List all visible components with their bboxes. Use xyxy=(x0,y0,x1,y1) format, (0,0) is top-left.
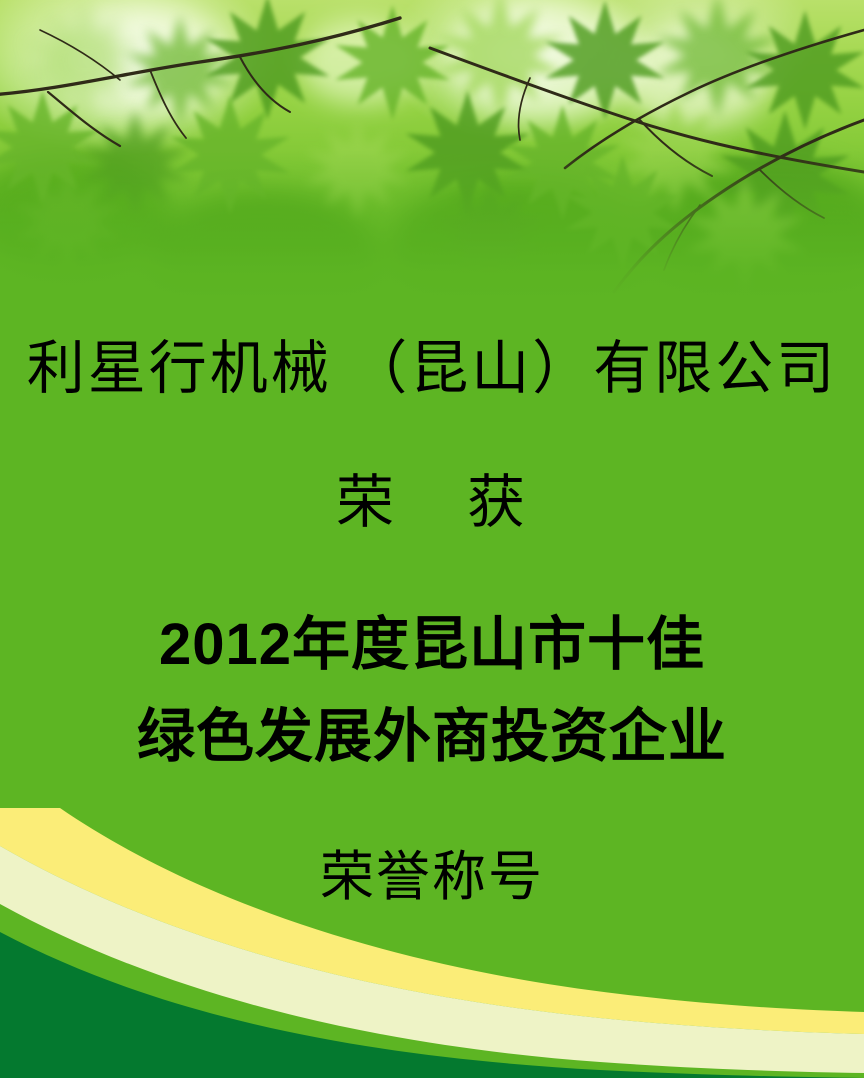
award-title-line-1: 2012年度昆山市十佳 xyxy=(0,616,864,674)
award-title-line-1-text: 年度昆山市十佳 xyxy=(292,612,705,677)
award-verb-line: 荣 获 xyxy=(0,474,864,532)
bottom-curved-ribbon xyxy=(0,808,864,1078)
company-name-line: 利星行机械 （昆山）有限公司 xyxy=(0,340,864,398)
award-title-line-2: 绿色发展外商投资企业 xyxy=(0,708,864,766)
award-year: 2012 xyxy=(159,612,292,677)
ribbon-svg xyxy=(0,808,864,1078)
award-certificate-slide: 利星行机械 （昆山）有限公司 荣 获 2012年度昆山市十佳 绿色发展外商投资企… xyxy=(0,0,864,1078)
